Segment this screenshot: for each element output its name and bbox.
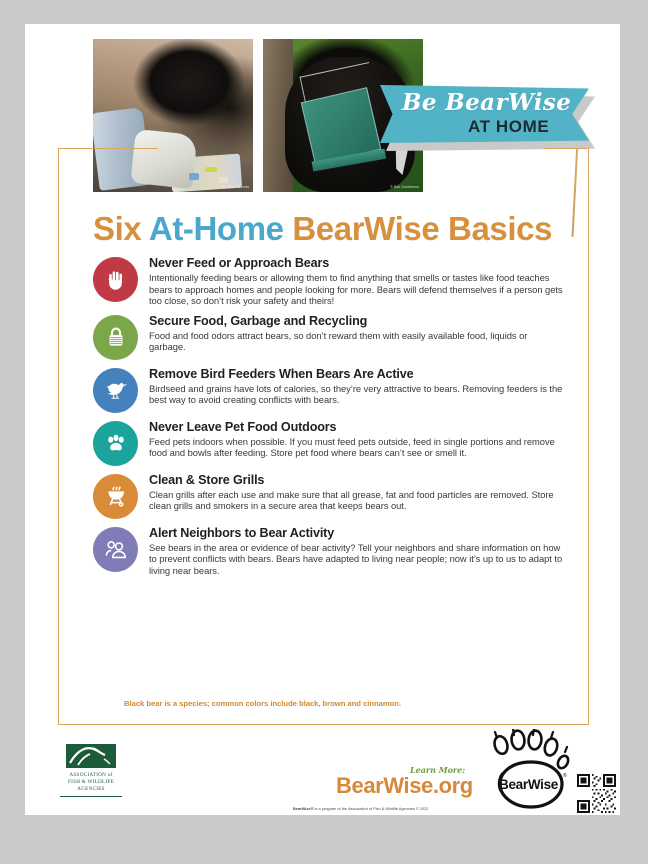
species-note: Black bear is a species; common colors i… <box>124 699 401 708</box>
list-item-body: Clean & Store Grills Clean grills after … <box>149 472 563 512</box>
list-item-body: Remove Bird Feeders When Bears Are Activ… <box>149 366 563 406</box>
paw-print-icon <box>93 421 138 466</box>
be-bearwise-banner: Be BearWise AT HOME <box>380 85 595 145</box>
list-item-title: Secure Food, Garbage and Recycling <box>149 314 563 328</box>
list-item-text: Intentionally feeding bears or allowing … <box>149 272 563 307</box>
frame-top-left-rule <box>58 148 158 149</box>
fineprint-rest: is a program of the Association of Fish … <box>314 806 429 811</box>
list-item: Remove Bird Feeders When Bears Are Activ… <box>93 366 563 413</box>
copyright-fineprint: BearWise® is a program of the Associatio… <box>293 806 428 811</box>
bird-icon <box>93 368 138 413</box>
list-item-text: Clean grills after each use and make sur… <box>149 489 563 512</box>
hand-stop-icon <box>93 257 138 302</box>
basics-list: Never Feed or Approach Bears Intentional… <box>93 255 563 583</box>
title-part-six: Six <box>93 210 149 247</box>
list-item-body: Alert Neighbors to Bear Activity See bea… <box>149 525 563 577</box>
list-item-title: Clean & Store Grills <box>149 473 563 487</box>
list-item-title: Never Feed or Approach Bears <box>149 256 563 270</box>
list-item-title: Remove Bird Feeders When Bears Are Activ… <box>149 367 563 381</box>
bearwise-paw-logo: BearWise ® <box>487 729 575 814</box>
registered-mark: ® <box>563 773 567 779</box>
list-item-body: Never Feed or Approach Bears Intentional… <box>149 255 563 307</box>
list-item-body: Secure Food, Garbage and Recycling Food … <box>149 313 563 353</box>
banner-title: Be BearWise <box>402 89 571 116</box>
padlock-icon <box>93 315 138 360</box>
title-part-bearwise-basics: BearWise Basics <box>292 210 552 247</box>
list-item-text: Feed pets indoors when possible. If you … <box>149 436 563 459</box>
grill-icon <box>93 474 138 519</box>
list-item: Never Feed or Approach Bears Intentional… <box>93 255 563 307</box>
list-item-title: Alert Neighbors to Bear Activity <box>149 526 563 540</box>
frame-top-right-rule <box>544 148 587 149</box>
page-title: Six At-Home BearWise Basics <box>93 210 552 248</box>
list-item: Secure Food, Garbage and Recycling Food … <box>93 313 563 360</box>
bearwise-logo-text: BearWise <box>499 777 558 792</box>
list-item-text: See bears in the area or evidence of bea… <box>149 542 563 577</box>
fineprint-brand: BearWise® <box>293 806 314 811</box>
afwa-line-3: AGENCIES <box>52 786 130 793</box>
banner-subtitle: AT HOME <box>468 117 549 137</box>
list-item: Clean & Store Grills Clean grills after … <box>93 472 563 519</box>
title-part-at-home: At-Home <box>149 210 292 247</box>
list-item: Never Leave Pet Food Outdoors Feed pets … <box>93 419 563 466</box>
list-item-text: Food and food odors attract bears, so do… <box>149 330 563 353</box>
afwa-mark-icon <box>60 743 122 769</box>
qr-code[interactable] <box>577 774 616 813</box>
list-item-text: Birdseed and grains have lots of calorie… <box>149 383 563 406</box>
list-item-title: Never Leave Pet Food Outdoors <box>149 420 563 434</box>
list-item: Alert Neighbors to Bear Activity See bea… <box>93 525 563 577</box>
website-link[interactable]: BearWise.org <box>336 773 473 799</box>
afwa-line-2: FISH & WILDLIFE <box>52 779 130 786</box>
neighbors-people-icon <box>93 527 138 572</box>
list-item-body: Never Leave Pet Food Outdoors Feed pets … <box>149 419 563 459</box>
afwa-divider <box>60 796 122 797</box>
afwa-logo: ASSOCIATION of FISH & WILDLIFE AGENCIES <box>52 743 130 797</box>
afwa-line-1: ASSOCIATION of <box>52 772 130 779</box>
poster-page: (c) 2017 Thomas © Bob Gunderson Be BearW… <box>25 24 620 815</box>
